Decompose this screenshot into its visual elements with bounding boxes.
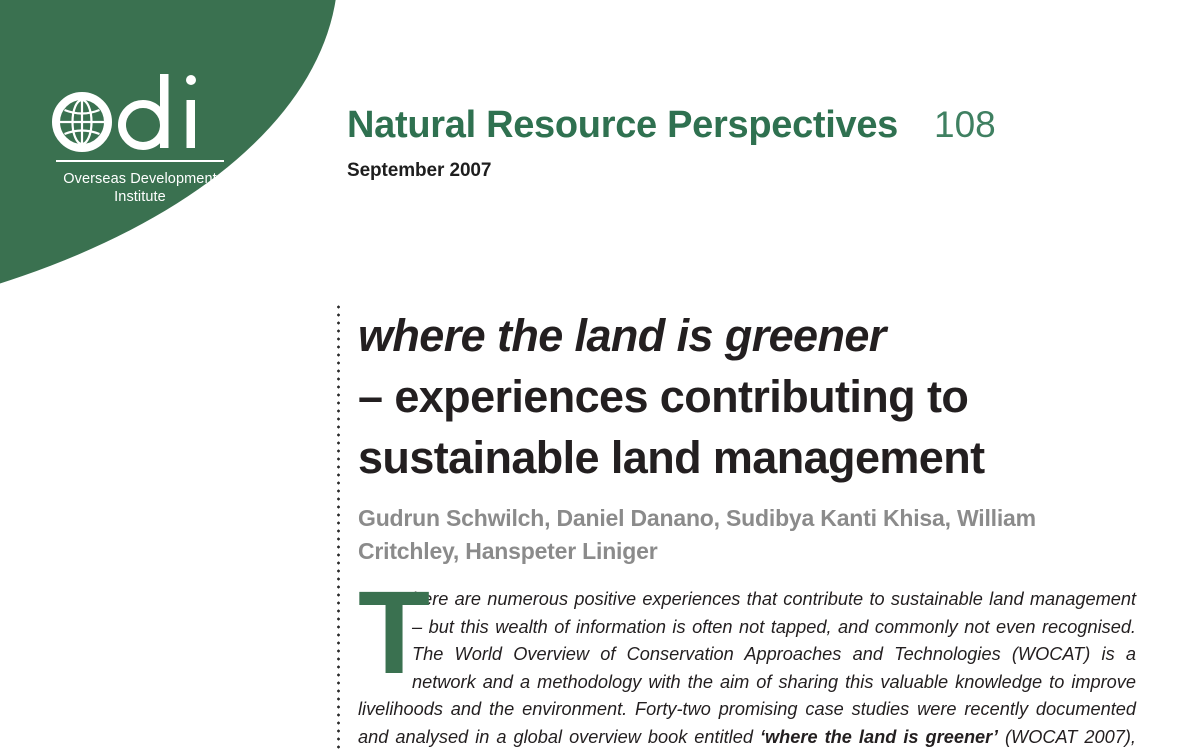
odi-logo: Overseas Development Institute <box>40 74 240 206</box>
issue-date: September 2007 <box>347 160 1147 182</box>
lede-wrapper: T here are numerous positive experiences… <box>358 586 1136 751</box>
document-page: Overseas Development Institute Natural R… <box>0 0 1200 751</box>
dotted-vertical-rule <box>337 303 340 751</box>
logo-tagline-line1: Overseas Development <box>40 170 240 188</box>
drop-cap-letter: T <box>358 589 408 677</box>
series-title: Natural Resource Perspectives <box>347 104 898 147</box>
logo-tagline: Overseas Development Institute <box>40 170 240 206</box>
logo-divider <box>56 160 224 162</box>
article-authors: Gudrun Schwilch, Daniel Danano, Sudibya … <box>358 502 1142 568</box>
article-lede: here are numerous positive experiences t… <box>358 586 1136 751</box>
article-title-line3: sustainable land management <box>358 427 1136 488</box>
masthead-header: Natural Resource Perspectives 108 Septem… <box>347 104 1147 182</box>
article-title-line2: – experiences contributing to <box>358 366 1136 427</box>
logo-tagline-line2: Institute <box>40 188 240 206</box>
article-block: where the land is greener – experiences … <box>358 305 1136 751</box>
odi-logo-mark <box>50 74 230 154</box>
drop-cap: T <box>358 589 408 677</box>
letter-i-glyph <box>186 74 200 152</box>
letter-d-glyph <box>116 74 178 152</box>
article-title-line1: where the land is greener <box>358 305 1136 366</box>
article-title: where the land is greener – experiences … <box>358 305 1136 488</box>
series-row: Natural Resource Perspectives 108 <box>347 104 1147 147</box>
issue-number: 108 <box>934 104 996 146</box>
lede-book-title: ‘where the land is greener’ <box>760 727 998 747</box>
globe-icon <box>52 92 112 152</box>
lede-part1: here are numerous positive experiences t… <box>358 589 1136 747</box>
